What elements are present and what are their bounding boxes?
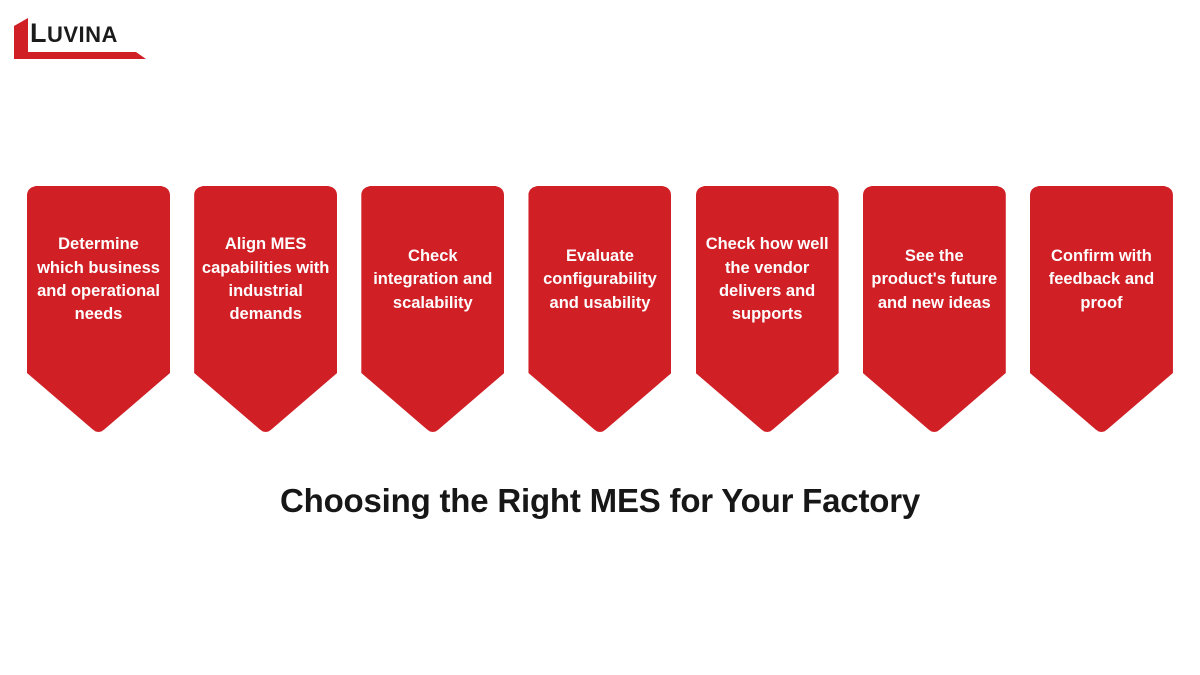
page-title: Choosing the Right MES for Your Factory <box>0 482 1200 520</box>
banner-label: Check integration and scalability <box>365 186 500 374</box>
banner-label: See the product's future and new ideas <box>867 186 1002 374</box>
banner-step-3[interactable]: Check integration and scalability <box>361 186 504 432</box>
banner-step-6[interactable]: See the product's future and new ideas <box>863 186 1006 432</box>
banner-label: Align MES capabilities with industrial d… <box>198 186 333 374</box>
banner-label: Confirm with feedback and proof <box>1034 186 1169 374</box>
infographic-canvas: LUVINA Determine which business and oper… <box>0 0 1200 675</box>
banner-label: Determine which business and operational… <box>31 186 166 374</box>
banner-step-5[interactable]: Check how well the vendor delivers and s… <box>696 186 839 432</box>
banner-step-1[interactable]: Determine which business and operational… <box>27 186 170 432</box>
brand-wordmark-rest: UVINA <box>47 22 118 47</box>
banner-step-2[interactable]: Align MES capabilities with industrial d… <box>194 186 337 432</box>
banner-label: Evaluate configurability and usability <box>532 186 667 374</box>
banner-label: Check how well the vendor delivers and s… <box>700 186 835 374</box>
brand-wordmark: LUVINA <box>30 20 118 47</box>
banner-step-4[interactable]: Evaluate configurability and usability <box>528 186 671 432</box>
banner-step-7[interactable]: Confirm with feedback and proof <box>1030 186 1173 432</box>
brand-wordmark-initial: L <box>30 18 47 48</box>
banner-row: Determine which business and operational… <box>27 186 1173 434</box>
